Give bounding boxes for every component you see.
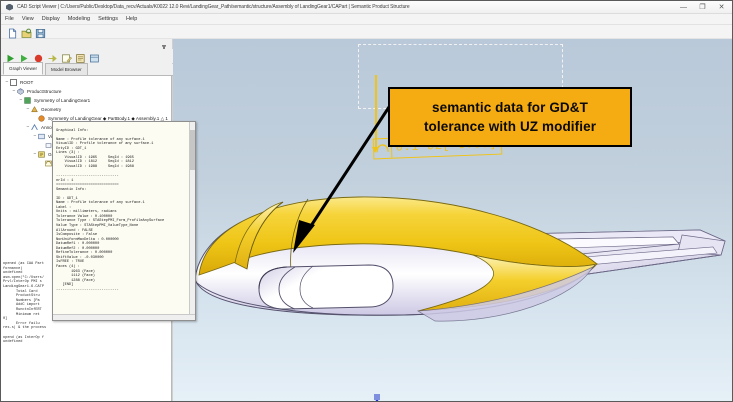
application-window: CAD Script Viewer | C:/Users/Public/Desk… xyxy=(0,0,733,402)
menu-bar: File View Display Modeling Settings Help xyxy=(1,14,733,25)
app-icon xyxy=(5,3,14,12)
tree-node-label: ROOT xyxy=(19,78,34,87)
view-icon xyxy=(45,142,52,149)
report-icon[interactable] xyxy=(75,51,86,62)
product-structure-icon xyxy=(17,88,24,95)
tab-model-browser[interactable]: Model Browser xyxy=(45,63,88,75)
callout-line-2: tolerance with UZ modifier xyxy=(424,117,596,136)
info-horizontal-scrollbar[interactable] xyxy=(53,314,195,320)
panel-pin-icon[interactable] xyxy=(159,40,169,49)
export-icon[interactable] xyxy=(89,51,100,62)
menu-settings[interactable]: Settings xyxy=(98,14,123,25)
geomtols-icon xyxy=(38,151,45,158)
tab-graph-viewer[interactable]: Graph Viewer xyxy=(3,62,43,75)
stop-icon[interactable] xyxy=(33,51,44,62)
arrow-next-icon[interactable] xyxy=(47,51,58,62)
edit-note-icon[interactable] xyxy=(61,51,72,62)
menu-modeling[interactable]: Modeling xyxy=(68,14,95,25)
axis-triad xyxy=(363,391,403,402)
minimize-button[interactable]: — xyxy=(679,1,688,14)
tree-node-label: ProductStructure xyxy=(26,87,62,96)
entity-info-window[interactable]: Graphical Info: Name : Profile tolerance… xyxy=(52,121,196,321)
maximize-button[interactable]: ❐ xyxy=(698,1,707,14)
tree-toolbar xyxy=(1,49,173,63)
window-title: CAD Script Viewer | C:/Users/Public/Desk… xyxy=(17,1,679,14)
new-document-icon[interactable] xyxy=(7,26,18,37)
tolerance-icon xyxy=(45,160,52,167)
tree-node-label: Symmetry of LandingGear1 xyxy=(33,96,91,105)
part-icon xyxy=(24,97,31,104)
solid-icon xyxy=(38,115,45,122)
info-vertical-scroll-thumb[interactable] xyxy=(190,130,195,170)
play-icon[interactable] xyxy=(5,51,16,62)
open-folder-icon[interactable] xyxy=(21,26,32,37)
callout-line-1: semantic data for GD&T xyxy=(432,98,588,117)
main-toolbar xyxy=(1,25,733,39)
tree-node[interactable]: −Geometry xyxy=(1,105,171,114)
entity-info-text: Graphical Info: Name : Profile tolerance… xyxy=(53,122,195,292)
panel-tabs: Graph Viewer Model Browser xyxy=(1,64,173,76)
tree-node-label: Geometry xyxy=(40,105,62,114)
menu-help[interactable]: Help xyxy=(126,14,142,25)
geometry-icon xyxy=(31,106,38,113)
save-icon[interactable] xyxy=(35,26,46,37)
annotation-callout: semantic data for GD&T tolerance with UZ… xyxy=(388,87,632,147)
tree-node[interactable]: −ROOT xyxy=(1,78,171,87)
tree-node[interactable]: −ProductStructure xyxy=(1,87,171,96)
title-bar: CAD Script Viewer | C:/Users/Public/Desk… xyxy=(1,1,733,14)
annotations-icon xyxy=(31,124,38,131)
window-recess xyxy=(259,265,393,309)
root-icon xyxy=(10,79,17,86)
views-icon xyxy=(38,133,45,140)
menu-display[interactable]: Display xyxy=(42,14,65,25)
close-button[interactable]: ✕ xyxy=(717,1,726,14)
menu-file[interactable]: File xyxy=(5,14,19,25)
tree-node[interactable]: −Symmetry of LandingGear1 xyxy=(1,96,171,105)
menu-view[interactable]: View xyxy=(22,14,39,25)
3d-viewport[interactable]: 0.1 UZ[-0.03] semantic data for GD&T tol… xyxy=(173,39,733,402)
play-step-icon[interactable] xyxy=(19,51,30,62)
info-vertical-scrollbar[interactable] xyxy=(189,122,195,320)
window-controls: — ❐ ✕ xyxy=(679,1,733,14)
